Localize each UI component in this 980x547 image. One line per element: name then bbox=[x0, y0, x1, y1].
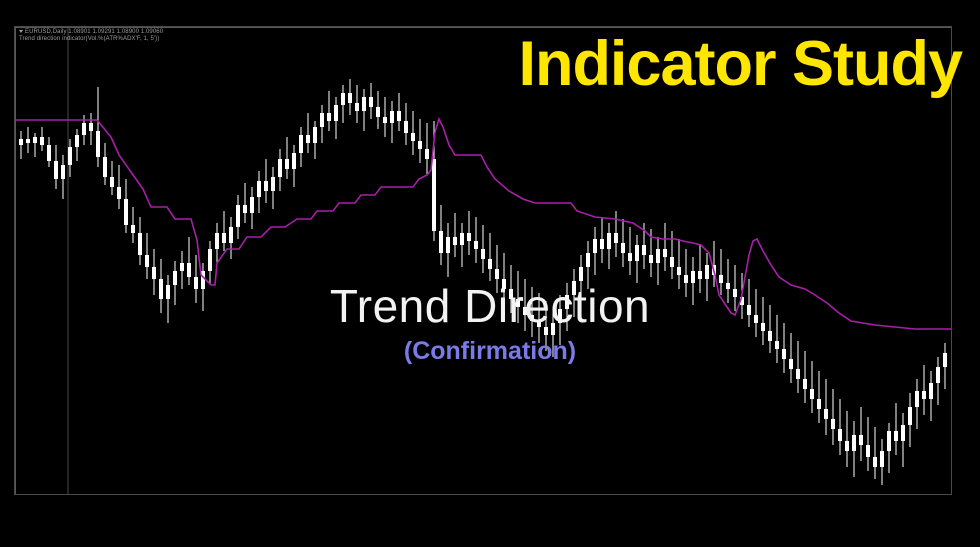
candle-wick bbox=[539, 293, 540, 343]
candle-body bbox=[425, 149, 429, 159]
candle-wick bbox=[784, 323, 785, 373]
candle-wick bbox=[826, 379, 827, 435]
candle-body bbox=[138, 233, 142, 255]
candle-body bbox=[607, 233, 611, 249]
candle-body bbox=[54, 161, 58, 179]
candle-body bbox=[810, 389, 814, 399]
candle-body bbox=[61, 165, 65, 179]
candle-body bbox=[383, 117, 387, 123]
candle-wick bbox=[518, 271, 519, 323]
candle-body bbox=[824, 409, 828, 419]
candle-body bbox=[887, 431, 891, 451]
candle-wick bbox=[189, 237, 190, 285]
candle-body bbox=[341, 93, 345, 105]
candle-body bbox=[355, 103, 359, 111]
candle-body bbox=[173, 271, 177, 285]
candle-body bbox=[166, 285, 170, 299]
candle-body bbox=[124, 199, 128, 225]
candle-body bbox=[698, 271, 702, 279]
candle-body bbox=[26, 139, 30, 143]
candle-body bbox=[264, 181, 268, 191]
candle-body bbox=[96, 131, 100, 157]
candle-body bbox=[348, 93, 352, 103]
candle-wick bbox=[896, 403, 897, 455]
candle-body bbox=[642, 245, 646, 255]
candle-body bbox=[306, 135, 310, 143]
candle-body bbox=[544, 327, 548, 335]
candle-wick bbox=[490, 233, 491, 281]
candle-body bbox=[292, 153, 296, 169]
candle-wick bbox=[847, 411, 848, 467]
candle-body bbox=[733, 289, 737, 297]
candle-body bbox=[838, 429, 842, 441]
candle-body bbox=[334, 105, 338, 121]
candle-body bbox=[635, 245, 639, 261]
candle-body bbox=[649, 255, 653, 263]
candle-body bbox=[446, 237, 450, 253]
candle-body bbox=[313, 127, 317, 143]
candle-body bbox=[614, 233, 618, 243]
candle-body bbox=[705, 265, 709, 279]
candle-body bbox=[47, 145, 51, 161]
candle-body bbox=[593, 239, 597, 253]
candle-wick bbox=[770, 305, 771, 353]
candle-body bbox=[152, 267, 156, 279]
candle-wick bbox=[455, 213, 456, 257]
candle-body bbox=[726, 283, 730, 289]
candle-body bbox=[19, 139, 23, 145]
candle-body bbox=[327, 113, 331, 121]
candle-body bbox=[299, 135, 303, 153]
candle-body bbox=[145, 255, 149, 267]
candle-body bbox=[866, 445, 870, 457]
candle-body bbox=[537, 321, 541, 327]
candle-wick bbox=[840, 399, 841, 455]
candle-body bbox=[796, 369, 800, 379]
candle-wick bbox=[476, 217, 477, 263]
candle-body bbox=[250, 197, 254, 213]
candle-wick bbox=[329, 91, 330, 131]
candle-wick bbox=[833, 389, 834, 445]
candle-body bbox=[852, 435, 856, 451]
candle-body bbox=[453, 237, 457, 245]
candle-body bbox=[362, 97, 366, 111]
candle-body bbox=[397, 111, 401, 121]
candle-body bbox=[761, 323, 765, 331]
candle-wick bbox=[700, 245, 701, 293]
candle-body bbox=[474, 241, 478, 249]
candle-wick bbox=[756, 289, 757, 337]
candle-body bbox=[880, 451, 884, 467]
candle-body bbox=[215, 233, 219, 249]
candle-wick bbox=[532, 287, 533, 337]
candle-wick bbox=[735, 265, 736, 311]
candle-body bbox=[509, 289, 513, 299]
candle-body bbox=[110, 177, 114, 187]
candle-body bbox=[936, 367, 940, 383]
candle-body bbox=[82, 123, 86, 135]
candle-wick bbox=[861, 407, 862, 461]
candle-body bbox=[467, 233, 471, 241]
candle-body bbox=[908, 407, 912, 425]
candle-wick bbox=[791, 333, 792, 383]
candle-body bbox=[803, 379, 807, 389]
candle-body bbox=[558, 309, 562, 323]
candle-body bbox=[243, 205, 247, 213]
candle-wick bbox=[721, 249, 722, 295]
candle-body bbox=[572, 281, 576, 295]
candle-wick bbox=[749, 279, 750, 327]
candle-body bbox=[901, 425, 905, 441]
candle-body bbox=[89, 123, 93, 131]
candle-body bbox=[320, 113, 324, 127]
candle-wick bbox=[308, 113, 309, 153]
candle-wick bbox=[819, 371, 820, 423]
candle-body bbox=[530, 315, 534, 321]
candle-body bbox=[859, 435, 863, 445]
candle-body bbox=[103, 157, 107, 177]
candle-wick bbox=[546, 301, 547, 351]
candle-body bbox=[229, 227, 233, 243]
candle-body bbox=[754, 315, 758, 323]
study-title: Indicator Study bbox=[518, 33, 962, 96]
candle-body bbox=[208, 249, 212, 271]
candle-body bbox=[873, 457, 877, 467]
candle-wick bbox=[630, 227, 631, 275]
candle-body bbox=[670, 257, 674, 267]
candle-wick bbox=[35, 133, 36, 157]
candle-body bbox=[369, 97, 373, 107]
candle-body bbox=[187, 263, 191, 277]
candle-body bbox=[775, 341, 779, 349]
candle-body bbox=[404, 121, 408, 133]
candle-body bbox=[621, 243, 625, 253]
candle-body bbox=[439, 231, 443, 253]
candle-body bbox=[831, 419, 835, 429]
candle-body bbox=[894, 431, 898, 441]
candle-body bbox=[418, 141, 422, 149]
candle-wick bbox=[224, 211, 225, 251]
screen-root: EURUSD,Daily 1.08901 1.09291 1.08900 1.0… bbox=[0, 0, 980, 547]
candle-wick bbox=[287, 137, 288, 179]
candle-body bbox=[40, 137, 44, 145]
candle-wick bbox=[875, 427, 876, 479]
candle-body bbox=[719, 275, 723, 283]
candle-body bbox=[586, 253, 590, 267]
candle-body bbox=[929, 383, 933, 399]
candle-wick bbox=[763, 297, 764, 345]
candle-body bbox=[782, 349, 786, 359]
candle-body bbox=[278, 159, 282, 177]
candle-body bbox=[432, 159, 436, 231]
candle-wick bbox=[525, 279, 526, 331]
candle-wick bbox=[728, 259, 729, 303]
candle-wick bbox=[798, 341, 799, 393]
candle-body bbox=[663, 249, 667, 257]
candle-body bbox=[768, 331, 772, 341]
candle-body bbox=[488, 259, 492, 269]
candle-wick bbox=[686, 249, 687, 297]
candle-body bbox=[516, 299, 520, 307]
candle-body bbox=[495, 269, 499, 279]
candle-body bbox=[845, 441, 849, 451]
candle-body bbox=[628, 253, 632, 261]
candle-wick bbox=[812, 361, 813, 413]
candle-wick bbox=[805, 351, 806, 403]
candle-body bbox=[565, 295, 569, 309]
candle-body bbox=[222, 233, 226, 243]
candle-body bbox=[502, 279, 506, 289]
candle-wick bbox=[245, 183, 246, 223]
candle-body bbox=[600, 239, 604, 249]
candle-wick bbox=[679, 239, 680, 289]
candle-body bbox=[481, 249, 485, 259]
candle-body bbox=[285, 159, 289, 169]
candle-wick bbox=[665, 223, 666, 271]
candle-body bbox=[915, 391, 919, 407]
candle-body bbox=[236, 205, 240, 227]
candle-body bbox=[943, 353, 947, 367]
candle-body bbox=[677, 267, 681, 275]
candle-body bbox=[789, 359, 793, 369]
candle-body bbox=[579, 267, 583, 281]
candle-body bbox=[75, 135, 79, 147]
candle-body bbox=[390, 111, 394, 123]
candle-body bbox=[117, 187, 121, 199]
candle-body bbox=[68, 147, 72, 165]
candle-body bbox=[376, 107, 380, 117]
candle-body bbox=[523, 307, 527, 315]
candle-body bbox=[159, 279, 163, 299]
candle-body bbox=[271, 177, 275, 191]
candle-body bbox=[460, 233, 464, 245]
candle-body bbox=[656, 249, 660, 263]
candle-body bbox=[551, 323, 555, 335]
candle-body bbox=[131, 225, 135, 233]
candle-body bbox=[257, 181, 261, 197]
candle-body bbox=[180, 263, 184, 271]
candle-wick bbox=[777, 315, 778, 363]
candle-body bbox=[684, 275, 688, 283]
candle-body bbox=[922, 391, 926, 399]
candle-body bbox=[194, 277, 198, 289]
candle-wick bbox=[714, 241, 715, 287]
candle-body bbox=[33, 137, 37, 143]
candle-body bbox=[411, 133, 415, 141]
candle-body bbox=[747, 305, 751, 315]
candle-wick bbox=[868, 417, 869, 471]
candle-body bbox=[691, 271, 695, 283]
candle-body bbox=[817, 399, 821, 409]
candle-wick bbox=[924, 365, 925, 415]
